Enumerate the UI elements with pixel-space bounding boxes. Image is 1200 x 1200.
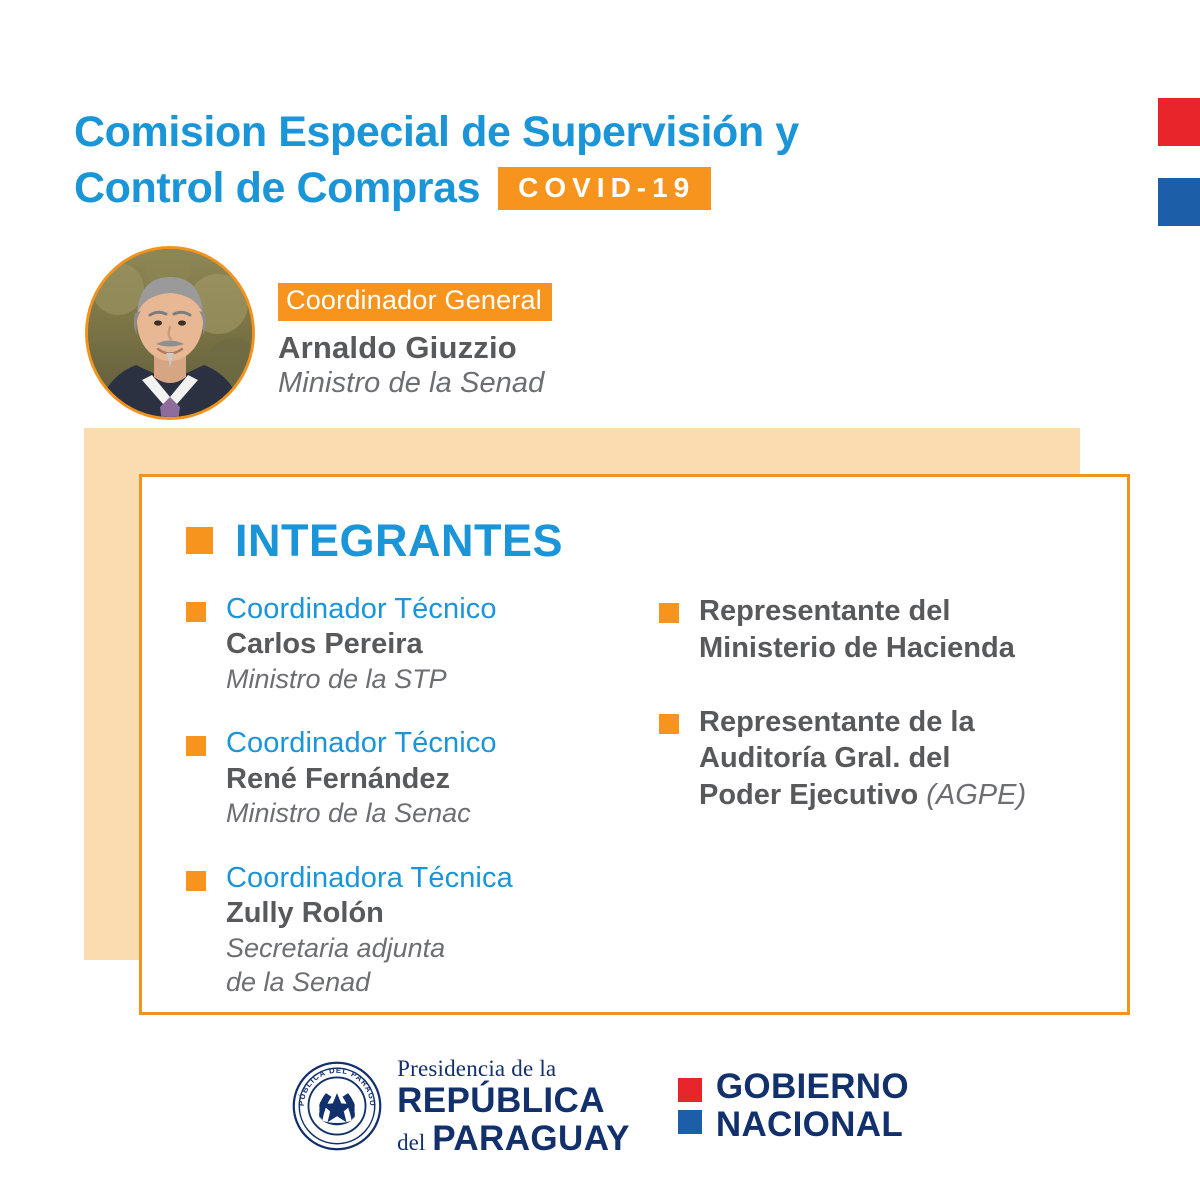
member-line-1: Representante del xyxy=(699,593,1099,630)
title-line-1: Comision Especial de Supervisión y xyxy=(74,105,974,161)
panel-header: INTEGRANTES xyxy=(186,518,563,563)
gobierno-flag-squares-icon xyxy=(678,1078,702,1134)
gobierno-nacional-logotype: GOBIERNO NACIONAL xyxy=(678,1068,909,1144)
list-item: Representante del Ministerio de Hacienda xyxy=(659,593,1099,667)
bullet-square-icon xyxy=(659,603,679,623)
presidencia-line-3-big: PARAGUAY xyxy=(432,1121,630,1156)
panel-title: INTEGRANTES xyxy=(235,518,563,563)
portrait-photo-icon xyxy=(88,249,252,417)
presidencia-line-1: Presidencia de la xyxy=(397,1057,630,1080)
gobierno-line-2: NACIONAL xyxy=(716,1106,909,1144)
presidencia-line-2: REPÚBLICA xyxy=(397,1083,630,1118)
member-subtitle-line-2: de la Senad xyxy=(226,966,606,1000)
bullet-square-icon xyxy=(186,602,206,622)
member-line-2: Ministerio de Hacienda xyxy=(699,630,1099,667)
member-subtitle-line-1: Secretaria adjunta xyxy=(226,932,606,966)
paraguay-seal-icon: REPÚBLICA DEL PARAGUAY xyxy=(291,1060,383,1152)
title-line-2: Control de Compras xyxy=(74,161,480,217)
bullet-square-icon xyxy=(659,714,679,734)
coordinator-role-badge: Coordinador General xyxy=(278,283,552,321)
bullet-square-icon xyxy=(186,527,213,554)
coordinator-subtitle: Ministro de la Senad xyxy=(278,367,918,400)
member-acronym: (AGPE) xyxy=(926,779,1026,811)
avatar xyxy=(85,246,255,420)
coordinator-name: Arnaldo Giuzzio xyxy=(278,330,918,366)
covid-badge: COVID-19 xyxy=(498,167,711,210)
footer: REPÚBLICA DEL PARAGUAY Presidencia de la… xyxy=(0,1046,1200,1166)
corner-square-blue-icon xyxy=(1158,178,1200,226)
member-line-2: Auditoría Gral. del xyxy=(699,740,1099,777)
member-name: Zully Rolón xyxy=(226,896,606,930)
page-title: Comision Especial de Supervisión y Contr… xyxy=(74,105,974,217)
members-left-column: Coordinador Técnico Carlos Pereira Minis… xyxy=(186,593,606,1031)
bullet-square-icon xyxy=(186,736,206,756)
coordinator-block: Coordinador General Arnaldo Giuzzio Mini… xyxy=(278,283,918,400)
corner-square-red-icon xyxy=(1158,98,1200,146)
member-role: Coordinador Técnico xyxy=(226,727,606,759)
member-line-1: Representante de la xyxy=(699,704,1099,741)
member-name: Carlos Pereira xyxy=(226,627,606,661)
list-item: Coordinador Técnico Carlos Pereira Minis… xyxy=(186,593,606,696)
poster-root: Comision Especial de Supervisión y Contr… xyxy=(0,0,1200,1200)
flag-square-red-icon xyxy=(678,1078,702,1102)
bullet-square-icon xyxy=(186,871,206,891)
presidencia-logotype: Presidencia de la REPÚBLICA del PARAGUAY xyxy=(397,1057,630,1156)
presidencia-line-3-small: del xyxy=(397,1131,425,1154)
list-item: Representante de la Auditoría Gral. del … xyxy=(659,704,1099,814)
member-role: Coordinadora Técnica xyxy=(226,862,606,894)
list-item: Coordinadora Técnica Zully Rolón Secreta… xyxy=(186,862,606,1000)
members-right-column: Representante del Ministerio de Hacienda… xyxy=(659,593,1099,851)
member-subtitle: Ministro de la Senac xyxy=(226,797,606,831)
member-line-3: Poder Ejecutivo xyxy=(699,779,918,811)
gobierno-line-1: GOBIERNO xyxy=(716,1068,909,1106)
member-role: Coordinador Técnico xyxy=(226,593,606,625)
member-subtitle: Ministro de la STP xyxy=(226,663,606,697)
member-name: René Fernández xyxy=(226,762,606,796)
flag-square-blue-icon xyxy=(678,1110,702,1134)
list-item: Coordinador Técnico René Fernández Minis… xyxy=(186,727,606,830)
